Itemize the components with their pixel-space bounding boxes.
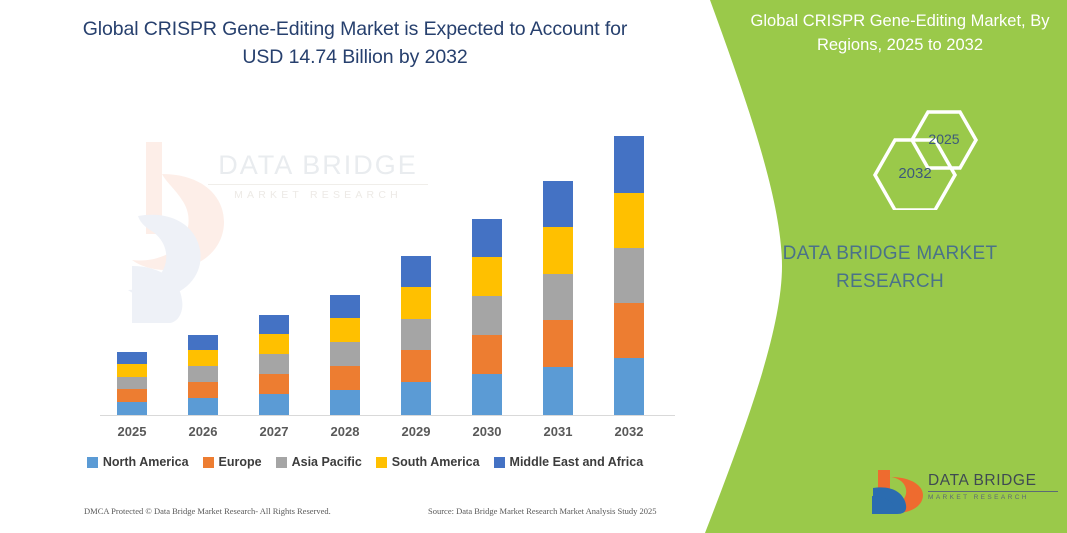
bar-segment[interactable] (401, 287, 431, 319)
bar-segment[interactable] (330, 366, 360, 390)
legend-label: South America (392, 455, 480, 469)
bar-segment[interactable] (259, 354, 289, 374)
footer-copyright: DMCA Protected © Data Bridge Market Rese… (84, 506, 331, 516)
logo-divider (928, 491, 1058, 492)
bar-segment[interactable] (259, 394, 289, 415)
legend-item[interactable]: South America (376, 455, 480, 469)
bar-segment[interactable] (330, 342, 360, 366)
chart-legend: North AmericaEuropeAsia PacificSouth Ame… (60, 455, 670, 469)
legend-label: Middle East and Africa (510, 455, 644, 469)
bar-segment[interactable] (543, 227, 573, 274)
bar-segment[interactable] (401, 319, 431, 350)
legend-swatch-icon (494, 457, 505, 468)
legend-swatch-icon (276, 457, 287, 468)
bar-group[interactable] (543, 181, 573, 415)
legend-swatch-icon (87, 457, 98, 468)
bar-group[interactable] (330, 295, 360, 415)
bar-segment[interactable] (188, 350, 218, 366)
bar-segment[interactable] (472, 257, 502, 296)
x-axis-label: 2029 (386, 424, 446, 439)
legend-label: Asia Pacific (292, 455, 362, 469)
bar-segment[interactable] (330, 318, 360, 342)
bar-group[interactable] (472, 219, 502, 415)
x-axis-label: 2025 (102, 424, 162, 439)
x-axis-label: 2028 (315, 424, 375, 439)
bar-segment[interactable] (614, 358, 644, 415)
logo: DATA BRIDGE MARKET RESEARCH (870, 468, 1060, 516)
bar-segment[interactable] (614, 193, 644, 248)
bar-segment[interactable] (330, 390, 360, 415)
hexagon-label-2025: 2025 (914, 131, 974, 147)
x-axis-labels: 20252026202720282029203020312032 (100, 424, 675, 444)
legend-label: Europe (219, 455, 262, 469)
bar-segment[interactable] (117, 352, 147, 364)
bar-segment[interactable] (472, 374, 502, 415)
x-axis-label: 2027 (244, 424, 304, 439)
logo-text: DATA BRIDGE MARKET RESEARCH (928, 472, 1058, 501)
bar-segment[interactable] (543, 320, 573, 367)
page-title: Global CRISPR Gene-Editing Market is Exp… (60, 16, 650, 71)
brand-name: DATA BRIDGE MARKET RESEARCH (735, 240, 1045, 295)
bar-segment[interactable] (117, 389, 147, 402)
stacked-bar-chart (100, 120, 675, 416)
bar-segment[interactable] (614, 248, 644, 303)
bar-segment[interactable] (117, 377, 147, 389)
chart-panel: Global CRISPR Gene-Editing Market is Exp… (0, 0, 712, 533)
logo-subtitle: MARKET RESEARCH (928, 494, 1058, 501)
bar-group[interactable] (614, 136, 644, 415)
x-axis-label: 2030 (457, 424, 517, 439)
bar-segment[interactable] (259, 374, 289, 394)
legend-item[interactable]: North America (87, 455, 189, 469)
bar-segment[interactable] (401, 382, 431, 415)
bar-group[interactable] (188, 335, 218, 415)
bar-segment[interactable] (188, 335, 218, 350)
bar-group[interactable] (259, 315, 289, 415)
bar-group[interactable] (401, 256, 431, 415)
bar-segment[interactable] (543, 181, 573, 227)
legend-item[interactable]: Asia Pacific (276, 455, 362, 469)
logo-name: DATA BRIDGE (928, 472, 1058, 490)
bar-segment[interactable] (614, 303, 644, 358)
bar-segment[interactable] (472, 335, 502, 374)
x-axis-label: 2032 (599, 424, 659, 439)
bar-segment[interactable] (188, 398, 218, 415)
bar-segment[interactable] (330, 295, 360, 318)
bar-segment[interactable] (472, 296, 502, 335)
hexagon-label-2032: 2032 (885, 165, 945, 182)
footer-source: Source: Data Bridge Market Research Mark… (428, 506, 657, 516)
brand-panel-title: Global CRISPR Gene-Editing Market, By Re… (750, 10, 1050, 58)
bar-group[interactable] (117, 352, 147, 415)
bar-segment[interactable] (472, 219, 502, 257)
hexagon-shapes (690, 90, 1067, 210)
bar-segment[interactable] (543, 274, 573, 320)
bar-segment[interactable] (401, 350, 431, 382)
x-axis-label: 2026 (173, 424, 233, 439)
bar-segment[interactable] (188, 382, 218, 398)
bar-segment[interactable] (117, 364, 147, 377)
legend-label: North America (103, 455, 189, 469)
x-axis-line (100, 415, 675, 416)
bar-segment[interactable] (543, 367, 573, 415)
bar-segment[interactable] (614, 136, 644, 193)
data-bridge-b-mark-icon (870, 468, 926, 514)
legend-swatch-icon (376, 457, 387, 468)
legend-item[interactable]: Middle East and Africa (494, 455, 644, 469)
infographic-page: Global CRISPR Gene-Editing Market is Exp… (0, 0, 1067, 533)
bar-segment[interactable] (259, 315, 289, 334)
bar-segment[interactable] (188, 366, 218, 382)
brand-panel: Global CRISPR Gene-Editing Market, By Re… (690, 0, 1067, 533)
bar-segment[interactable] (259, 334, 289, 354)
bar-segment[interactable] (117, 402, 147, 415)
x-axis-label: 2031 (528, 424, 588, 439)
legend-swatch-icon (203, 457, 214, 468)
bar-segment[interactable] (401, 256, 431, 287)
hexagon-group: 2032 2025 (690, 90, 1067, 210)
legend-item[interactable]: Europe (203, 455, 262, 469)
